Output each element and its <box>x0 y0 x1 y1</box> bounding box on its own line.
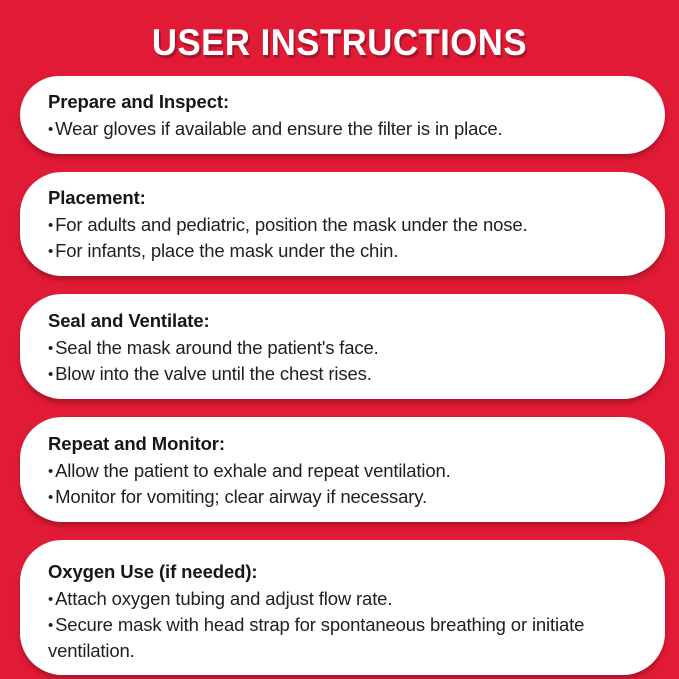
instruction-card: Repeat and Monitor: •Allow the patient t… <box>20 417 665 522</box>
instruction-bullet-line: •Secure mask with head strap for spontan… <box>48 612 639 663</box>
instruction-bullet-line: •Wear gloves if available and ensure the… <box>48 116 639 142</box>
instruction-bullet-text: Blow into the valve until the chest rise… <box>55 363 372 384</box>
instruction-bullet-line: •Monitor for vomiting; clear airway if n… <box>48 484 639 510</box>
instruction-bullet-line: •Blow into the valve until the chest ris… <box>48 361 639 387</box>
instruction-bullet-line: •Attach oxygen tubing and adjust flow ra… <box>48 586 639 612</box>
instruction-bullet-line: •For adults and pediatric, position the … <box>48 212 639 238</box>
instruction-card-lines: •Attach oxygen tubing and adjust flow ra… <box>48 586 639 663</box>
instruction-bullet-line: •Allow the patient to exhale and repeat … <box>48 458 639 484</box>
instruction-card-lines: •For adults and pediatric, position the … <box>48 212 639 264</box>
instruction-bullet-text: Secure mask with head strap for spontane… <box>48 614 589 661</box>
instruction-card-lines: •Allow the patient to exhale and repeat … <box>48 458 639 510</box>
instruction-card-title: Prepare and Inspect: <box>48 89 639 115</box>
instruction-card-title: Oxygen Use (if needed): <box>48 559 639 585</box>
instructions-poster: USER INSTRUCTIONS Prepare and Inspect: •… <box>0 0 679 679</box>
instruction-card-title: Seal and Ventilate: <box>48 308 639 334</box>
instruction-bullet-text: Wear gloves if available and ensure the … <box>55 118 502 139</box>
instruction-card: Placement: •For adults and pediatric, po… <box>20 172 665 276</box>
instruction-bullet-line: •For infants, place the mask under the c… <box>48 238 639 264</box>
instruction-bullet-text: For adults and pediatric, position the m… <box>55 214 527 235</box>
instruction-card: Prepare and Inspect: •Wear gloves if ava… <box>20 76 665 154</box>
instruction-card: Oxygen Use (if needed): •Attach oxygen t… <box>20 540 665 675</box>
instruction-bullet-text: Seal the mask around the patient's face. <box>55 337 379 358</box>
instruction-bullet-line: •Seal the mask around the patient's face… <box>48 335 639 361</box>
instruction-card-title: Placement: <box>48 185 639 211</box>
instruction-card-list: Prepare and Inspect: •Wear gloves if ava… <box>20 76 665 675</box>
instruction-card-lines: •Seal the mask around the patient's face… <box>48 335 639 387</box>
instruction-card: Seal and Ventilate: •Seal the mask aroun… <box>20 294 665 399</box>
page-title: USER INSTRUCTIONS <box>20 21 658 65</box>
instruction-bullet-text: For infants, place the mask under the ch… <box>55 240 398 261</box>
instruction-bullet-text: Allow the patient to exhale and repeat v… <box>55 460 451 481</box>
instruction-card-lines: •Wear gloves if available and ensure the… <box>48 116 639 142</box>
instruction-card-title: Repeat and Monitor: <box>48 431 639 457</box>
instruction-bullet-text: Attach oxygen tubing and adjust flow rat… <box>55 588 392 609</box>
instruction-bullet-text: Monitor for vomiting; clear airway if ne… <box>55 486 427 507</box>
